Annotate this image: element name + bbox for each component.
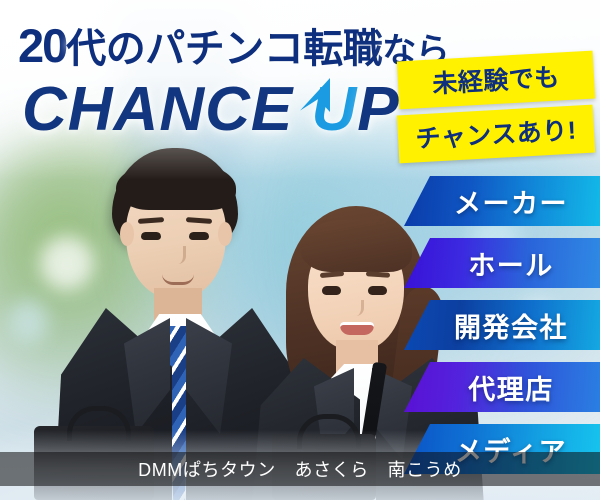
- headline: 20代のパチンコ転職なら: [18, 16, 449, 74]
- advertisement-banner[interactable]: 20代のパチンコ転職なら CHANCE UP 未経験でも チャンスあり! メーカ…: [0, 0, 600, 500]
- callout-line-2: チャンスあり!: [397, 105, 595, 164]
- woman-eye-left: [322, 286, 341, 295]
- category-label: 開発会社: [436, 306, 568, 345]
- woman-mouth: [340, 322, 374, 335]
- caption-text: DMMぱちタウン あさくら 南こうめ: [138, 456, 462, 482]
- headline-number: 20: [18, 19, 66, 72]
- background-bokeh-light: [8, 300, 48, 344]
- category-item-maker[interactable]: メーカー: [404, 176, 600, 226]
- category-label: ホール: [450, 244, 554, 283]
- man-eye-right: [189, 232, 209, 240]
- category-list: メーカー ホール 開発会社 代理店 メディア: [404, 176, 600, 486]
- logo-word-chance: CHANCE: [22, 75, 311, 144]
- callout-line-1: 未経験でも: [397, 51, 595, 110]
- woman-eye-right: [368, 286, 387, 295]
- logo-letter-p: P: [357, 75, 399, 144]
- category-label: メーカー: [436, 182, 568, 221]
- headline-body: 代のパチンコ転職: [66, 27, 382, 71]
- category-item-hall[interactable]: ホール: [404, 238, 600, 288]
- category-item-development[interactable]: 開発会社: [404, 300, 600, 350]
- category-label: 代理店: [450, 368, 554, 407]
- woman-fringe: [300, 220, 412, 272]
- callout-badge: 未経験でも チャンスあり!: [398, 56, 594, 158]
- man-eye-left: [141, 232, 161, 240]
- logo-chance-up: CHANCE UP: [22, 74, 400, 145]
- man-ear-right: [218, 222, 232, 246]
- category-item-agency[interactable]: 代理店: [404, 362, 600, 412]
- man-ear-left: [120, 222, 134, 246]
- caption-bar: DMMぱちタウン あさくら 南こうめ: [0, 452, 600, 486]
- man-nose: [171, 246, 186, 264]
- logo-letter-u: U: [311, 75, 357, 144]
